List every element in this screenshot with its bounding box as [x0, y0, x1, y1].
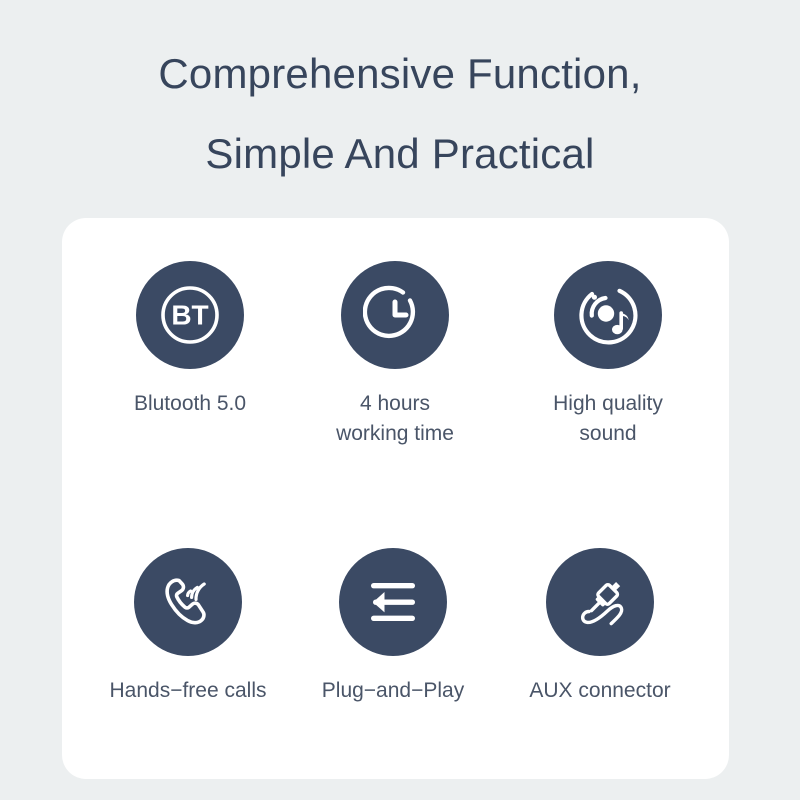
- aux-plug-cable-icon: [568, 570, 632, 634]
- feature-sound-quality[interactable]: High quality sound: [508, 261, 708, 450]
- feature-bluetooth[interactable]: BT Blutooth 5.0: [90, 261, 290, 419]
- page-title-line-2: Simple And Practical: [0, 114, 800, 194]
- page-title: Comprehensive Function, Simple And Pract…: [0, 34, 800, 194]
- page-title-line-1: Comprehensive Function,: [0, 34, 800, 114]
- aux-connector-icon-badge: [546, 548, 654, 656]
- phone-call-icon: [156, 570, 220, 634]
- plug-and-play-icon-badge: [339, 548, 447, 656]
- feature-aux-connector-label: AUX connector: [500, 676, 700, 706]
- bt-badge-icon: BT: [157, 282, 223, 348]
- hands-free-icon-badge: [134, 548, 242, 656]
- bt-badge-label: BT: [171, 300, 208, 331]
- music-disc-icon: [575, 282, 641, 348]
- clock-icon: [363, 283, 427, 347]
- feature-hands-free-label: Hands−free calls: [88, 676, 288, 706]
- feature-sound-quality-label: High quality sound: [508, 389, 708, 450]
- feature-working-time-label: 4 hours working time: [295, 389, 495, 450]
- feature-bluetooth-label: Blutooth 5.0: [90, 389, 290, 419]
- bluetooth-icon-badge: BT: [136, 261, 244, 369]
- features-card: BT Blutooth 5.0 4 hours working time: [62, 218, 729, 779]
- feature-grid: BT Blutooth 5.0 4 hours working time: [62, 218, 729, 779]
- sound-quality-icon-badge: [554, 261, 662, 369]
- arrow-left-transfer-icon: [362, 571, 424, 633]
- feature-plug-and-play[interactable]: Plug−and−Play: [293, 548, 493, 706]
- feature-aux-connector[interactable]: AUX connector: [500, 548, 700, 706]
- feature-plug-and-play-label: Plug−and−Play: [293, 676, 493, 706]
- feature-working-time[interactable]: 4 hours working time: [295, 261, 495, 450]
- working-time-icon-badge: [341, 261, 449, 369]
- feature-hands-free[interactable]: Hands−free calls: [88, 548, 288, 706]
- feature-highlights-page: Comprehensive Function, Simple And Pract…: [0, 0, 800, 800]
